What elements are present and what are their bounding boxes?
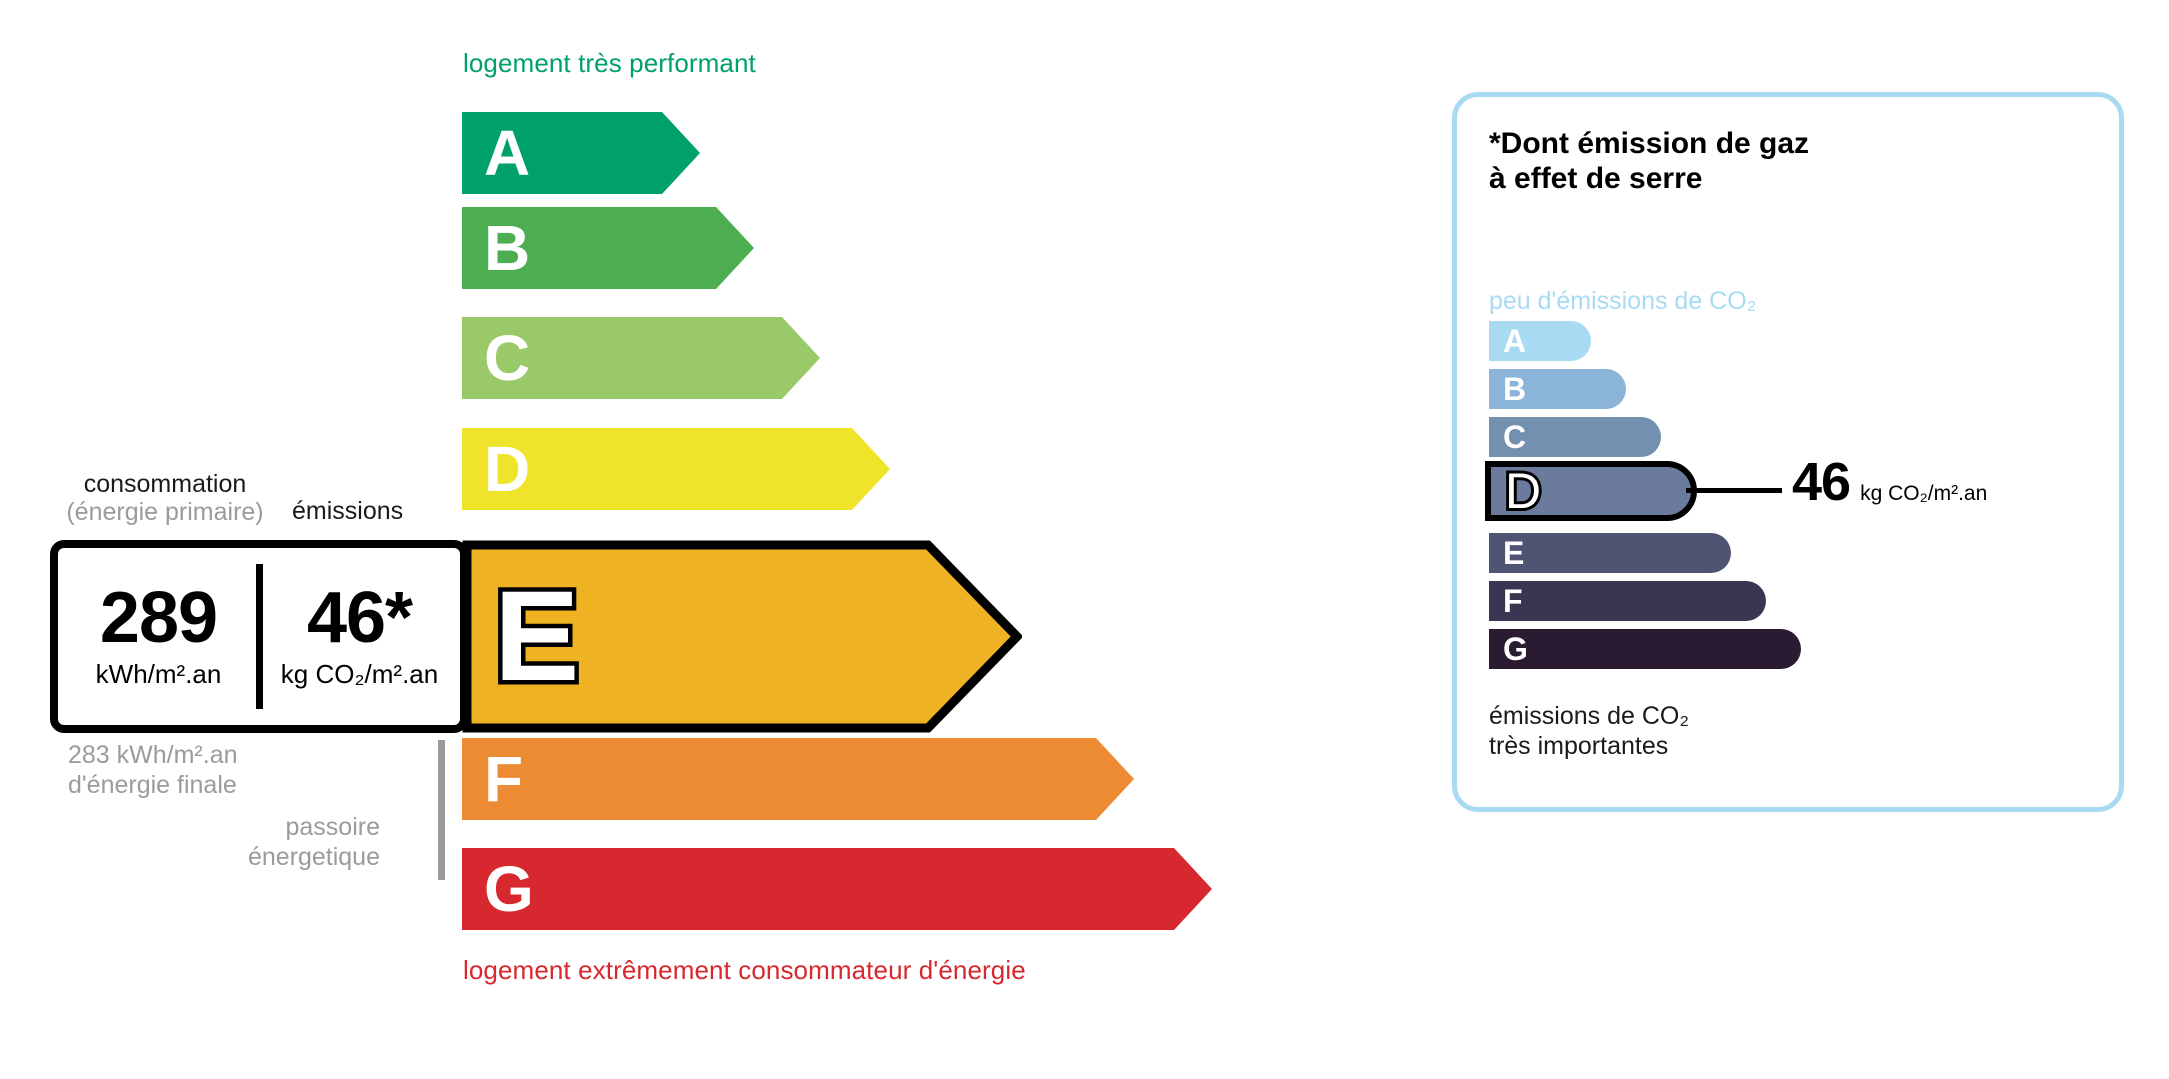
energy-band-b-letter: B [484,216,530,280]
energy-band-f-arrow-icon [462,738,1134,820]
emissions-label: émissions [292,497,403,526]
energy-band-g-arrow-icon [462,848,1212,930]
energy-performance-scale: logement très performant A B C [0,0,1390,1079]
emissions-value: 46* [307,583,412,654]
co2-band-f-letter: F [1503,585,1523,617]
co2-band-f[interactable]: F [1489,581,1766,621]
consumption-label-subtitle: (énergie primaire) [50,498,280,526]
co2-panel-title-line1: *Dont émission de gaz [1489,127,1809,162]
final-energy-note-line1: 283 kWh/m².an [68,740,238,770]
co2-callout: 46 kg CO₂/m².an [1792,455,1987,509]
energy-band-e-letter: E [494,573,579,701]
co2-emissions-panel: *Dont émission de gaz à effet de serre p… [1452,92,2124,812]
energy-band-d-letter: D [484,437,530,501]
co2-caption-high-line1: émissions de CO₂ [1489,701,1689,731]
co2-band-b[interactable]: B [1489,369,1626,409]
passoire-note: passoire énergetique [180,812,380,872]
co2-band-b-letter: B [1503,373,1526,405]
consumption-label-title: consommation [50,470,280,498]
passoire-note-line2: énergetique [180,842,380,872]
consumption-value-unit: kWh/m².an [96,659,222,690]
co2-band-c[interactable]: C [1489,417,1661,457]
emissions-value-unit: kg CO₂/m².an [281,659,438,690]
energy-band-c-letter: C [484,326,530,390]
energy-band-g-letter: G [484,857,534,921]
final-energy-note-line2: d'énergie finale [68,770,238,800]
energy-band-c[interactable]: C [462,317,820,399]
consumption-value: 289 [100,583,217,654]
co2-band-e[interactable]: E [1489,533,1731,573]
co2-band-c-letter: C [1503,421,1526,453]
co2-band-e-letter: E [1503,537,1524,569]
passoire-note-line1: passoire [180,812,380,842]
energy-band-f[interactable]: F [462,738,1134,820]
scale-top-caption: logement très performant [463,48,756,79]
consumption-label: consommation (énergie primaire) [50,470,280,526]
scale-bottom-caption: logement extrêmement consommateur d'éner… [463,955,1026,986]
co2-band-g-letter: G [1503,633,1528,665]
energy-band-g[interactable]: G [462,848,1212,930]
co2-callout-unit: kg CO₂/m².an [1860,482,1987,506]
final-energy-note: 283 kWh/m².an d'énergie finale [68,740,238,800]
energy-band-d[interactable]: D [462,428,890,510]
energy-band-b[interactable]: B [462,207,754,289]
energy-band-a[interactable]: A [462,112,700,194]
co2-callout-leader-line [1686,488,1782,493]
co2-callout-value: 46 [1792,455,1850,509]
consumption-value-cell: 289 kWh/m².an [58,548,259,725]
co2-band-a-letter: A [1503,325,1526,357]
energy-band-a-letter: A [484,121,530,185]
co2-panel-title: *Dont émission de gaz à effet de serre [1489,127,1809,197]
energy-band-f-letter: F [484,747,523,811]
co2-caption-high: émissions de CO₂ très importantes [1489,701,1689,761]
co2-band-a[interactable]: A [1489,321,1591,361]
passoire-bracket-rule [438,740,445,880]
co2-band-g[interactable]: G [1489,629,1801,669]
emissions-value-cell: 46* kg CO₂/m².an [259,548,460,725]
energy-band-e-selected[interactable]: E [462,540,1022,733]
co2-band-d-letter: D [1505,466,1541,516]
value-box: 289 kWh/m².an 46* kg CO₂/m².an [50,540,468,733]
co2-panel-title-line2: à effet de serre [1489,162,1809,197]
co2-caption-high-line2: très importantes [1489,731,1689,761]
co2-caption-low: peu d'émissions de CO₂ [1489,287,1756,316]
co2-band-d-selected[interactable]: D [1485,461,1697,521]
dpe-diagram: logement très performant A B C [0,0,2169,1079]
